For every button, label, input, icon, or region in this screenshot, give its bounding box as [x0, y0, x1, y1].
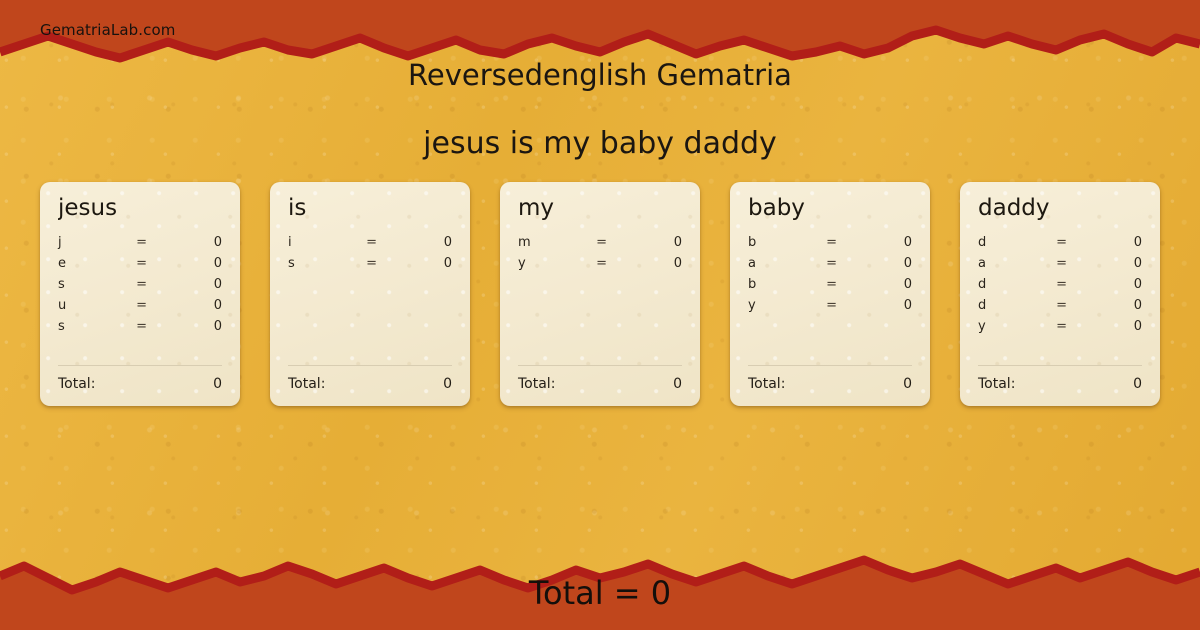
- letter-char: s: [58, 319, 127, 334]
- equals-sign: =: [817, 256, 847, 271]
- grand-total: Total = 0: [0, 574, 1200, 612]
- letter-char: d: [978, 277, 1047, 292]
- letter-value: 0: [616, 235, 682, 250]
- card-total-row: Total: 0: [518, 376, 682, 392]
- equals-sign: =: [817, 298, 847, 313]
- letter-value: 0: [386, 256, 452, 271]
- letter-rows: m = 0 y = 0: [518, 235, 682, 365]
- letter-row: y = 0: [518, 256, 682, 277]
- letter-char: d: [978, 235, 1047, 250]
- total-label: Total:: [748, 376, 903, 392]
- equals-sign: =: [127, 256, 157, 271]
- heading-block: Reversedenglish Gematria jesus is my bab…: [0, 58, 1200, 162]
- letter-row: u = 0: [58, 298, 222, 319]
- letter-value: 0: [846, 256, 912, 271]
- word-card-row: jesus j = 0 e = 0 s = 0 u: [40, 182, 1160, 406]
- letter-char: m: [518, 235, 587, 250]
- total-value: 0: [213, 376, 222, 392]
- letter-value: 0: [156, 298, 222, 313]
- letter-value: 0: [1076, 298, 1142, 313]
- letter-char: i: [288, 235, 357, 250]
- letter-value: 0: [846, 298, 912, 313]
- equals-sign: =: [127, 319, 157, 334]
- letter-rows: i = 0 s = 0: [288, 235, 452, 365]
- equals-sign: =: [1047, 319, 1077, 334]
- letter-value: 0: [156, 277, 222, 292]
- letter-value: 0: [1076, 319, 1142, 334]
- card-divider: [978, 365, 1142, 366]
- letter-value: 0: [156, 319, 222, 334]
- letter-char: y: [518, 256, 587, 271]
- card-word: baby: [748, 196, 912, 221]
- word-card: baby b = 0 a = 0 b = 0 y: [730, 182, 930, 406]
- gematria-poster: GematriaLab.com Reversedenglish Gematria…: [0, 0, 1200, 630]
- letter-char: y: [978, 319, 1047, 334]
- letter-char: b: [748, 235, 817, 250]
- card-divider: [58, 365, 222, 366]
- card-total-row: Total: 0: [748, 376, 912, 392]
- letter-row: a = 0: [978, 256, 1142, 277]
- letter-char: e: [58, 256, 127, 271]
- equals-sign: =: [1047, 235, 1077, 250]
- letter-char: j: [58, 235, 127, 250]
- equals-sign: =: [1047, 298, 1077, 313]
- letter-row: s = 0: [58, 319, 222, 340]
- equals-sign: =: [127, 277, 157, 292]
- card-total-row: Total: 0: [288, 376, 452, 392]
- letter-rows: d = 0 a = 0 d = 0 d = 0: [978, 235, 1142, 365]
- word-card: daddy d = 0 a = 0 d = 0 d: [960, 182, 1160, 406]
- letter-char: b: [748, 277, 817, 292]
- equals-sign: =: [357, 235, 387, 250]
- card-total-row: Total: 0: [978, 376, 1142, 392]
- letter-char: a: [978, 256, 1047, 271]
- card-total-row: Total: 0: [58, 376, 222, 392]
- card-divider: [518, 365, 682, 366]
- equals-sign: =: [817, 235, 847, 250]
- letter-row: j = 0: [58, 235, 222, 256]
- letter-rows: j = 0 e = 0 s = 0 u = 0: [58, 235, 222, 365]
- letter-row: b = 0: [748, 235, 912, 256]
- letter-value: 0: [1076, 277, 1142, 292]
- equals-sign: =: [1047, 277, 1077, 292]
- letter-value: 0: [846, 235, 912, 250]
- equals-sign: =: [587, 256, 617, 271]
- equals-sign: =: [357, 256, 387, 271]
- letter-row: s = 0: [58, 277, 222, 298]
- letter-value: 0: [156, 235, 222, 250]
- letter-char: u: [58, 298, 127, 313]
- word-card: jesus j = 0 e = 0 s = 0 u: [40, 182, 240, 406]
- letter-char: s: [288, 256, 357, 271]
- letter-row: s = 0: [288, 256, 452, 277]
- letter-value: 0: [616, 256, 682, 271]
- letter-row: d = 0: [978, 298, 1142, 319]
- card-word: my: [518, 196, 682, 221]
- total-value: 0: [443, 376, 452, 392]
- letter-char: a: [748, 256, 817, 271]
- equals-sign: =: [127, 235, 157, 250]
- letter-value: 0: [386, 235, 452, 250]
- equals-sign: =: [127, 298, 157, 313]
- letter-row: b = 0: [748, 277, 912, 298]
- phrase-text: jesus is my baby daddy: [0, 126, 1200, 162]
- letter-rows: b = 0 a = 0 b = 0 y = 0: [748, 235, 912, 365]
- top-torn-band: [0, 0, 1200, 72]
- letter-row: y = 0: [748, 298, 912, 319]
- total-label: Total:: [58, 376, 213, 392]
- equals-sign: =: [587, 235, 617, 250]
- total-label: Total:: [518, 376, 673, 392]
- card-divider: [748, 365, 912, 366]
- word-card: my m = 0 y = 0 Total: 0: [500, 182, 700, 406]
- total-label: Total:: [288, 376, 443, 392]
- card-divider: [288, 365, 452, 366]
- letter-row: y = 0: [978, 319, 1142, 340]
- total-value: 0: [903, 376, 912, 392]
- letter-char: d: [978, 298, 1047, 313]
- card-word: is: [288, 196, 452, 221]
- letter-char: y: [748, 298, 817, 313]
- letter-row: i = 0: [288, 235, 452, 256]
- total-value: 0: [673, 376, 682, 392]
- letter-value: 0: [156, 256, 222, 271]
- total-value: 0: [1133, 376, 1142, 392]
- letter-row: a = 0: [748, 256, 912, 277]
- total-label: Total:: [978, 376, 1133, 392]
- letter-row: d = 0: [978, 235, 1142, 256]
- word-card: is i = 0 s = 0 Total: 0: [270, 182, 470, 406]
- letter-char: s: [58, 277, 127, 292]
- letter-row: e = 0: [58, 256, 222, 277]
- card-word: daddy: [978, 196, 1142, 221]
- equals-sign: =: [1047, 256, 1077, 271]
- letter-value: 0: [846, 277, 912, 292]
- letter-row: m = 0: [518, 235, 682, 256]
- top-band-shape: [0, 0, 1200, 72]
- equals-sign: =: [817, 277, 847, 292]
- letter-value: 0: [1076, 256, 1142, 271]
- letter-value: 0: [1076, 235, 1142, 250]
- card-word: jesus: [58, 196, 222, 221]
- site-logo[interactable]: GematriaLab.com: [40, 21, 175, 39]
- letter-row: d = 0: [978, 277, 1142, 298]
